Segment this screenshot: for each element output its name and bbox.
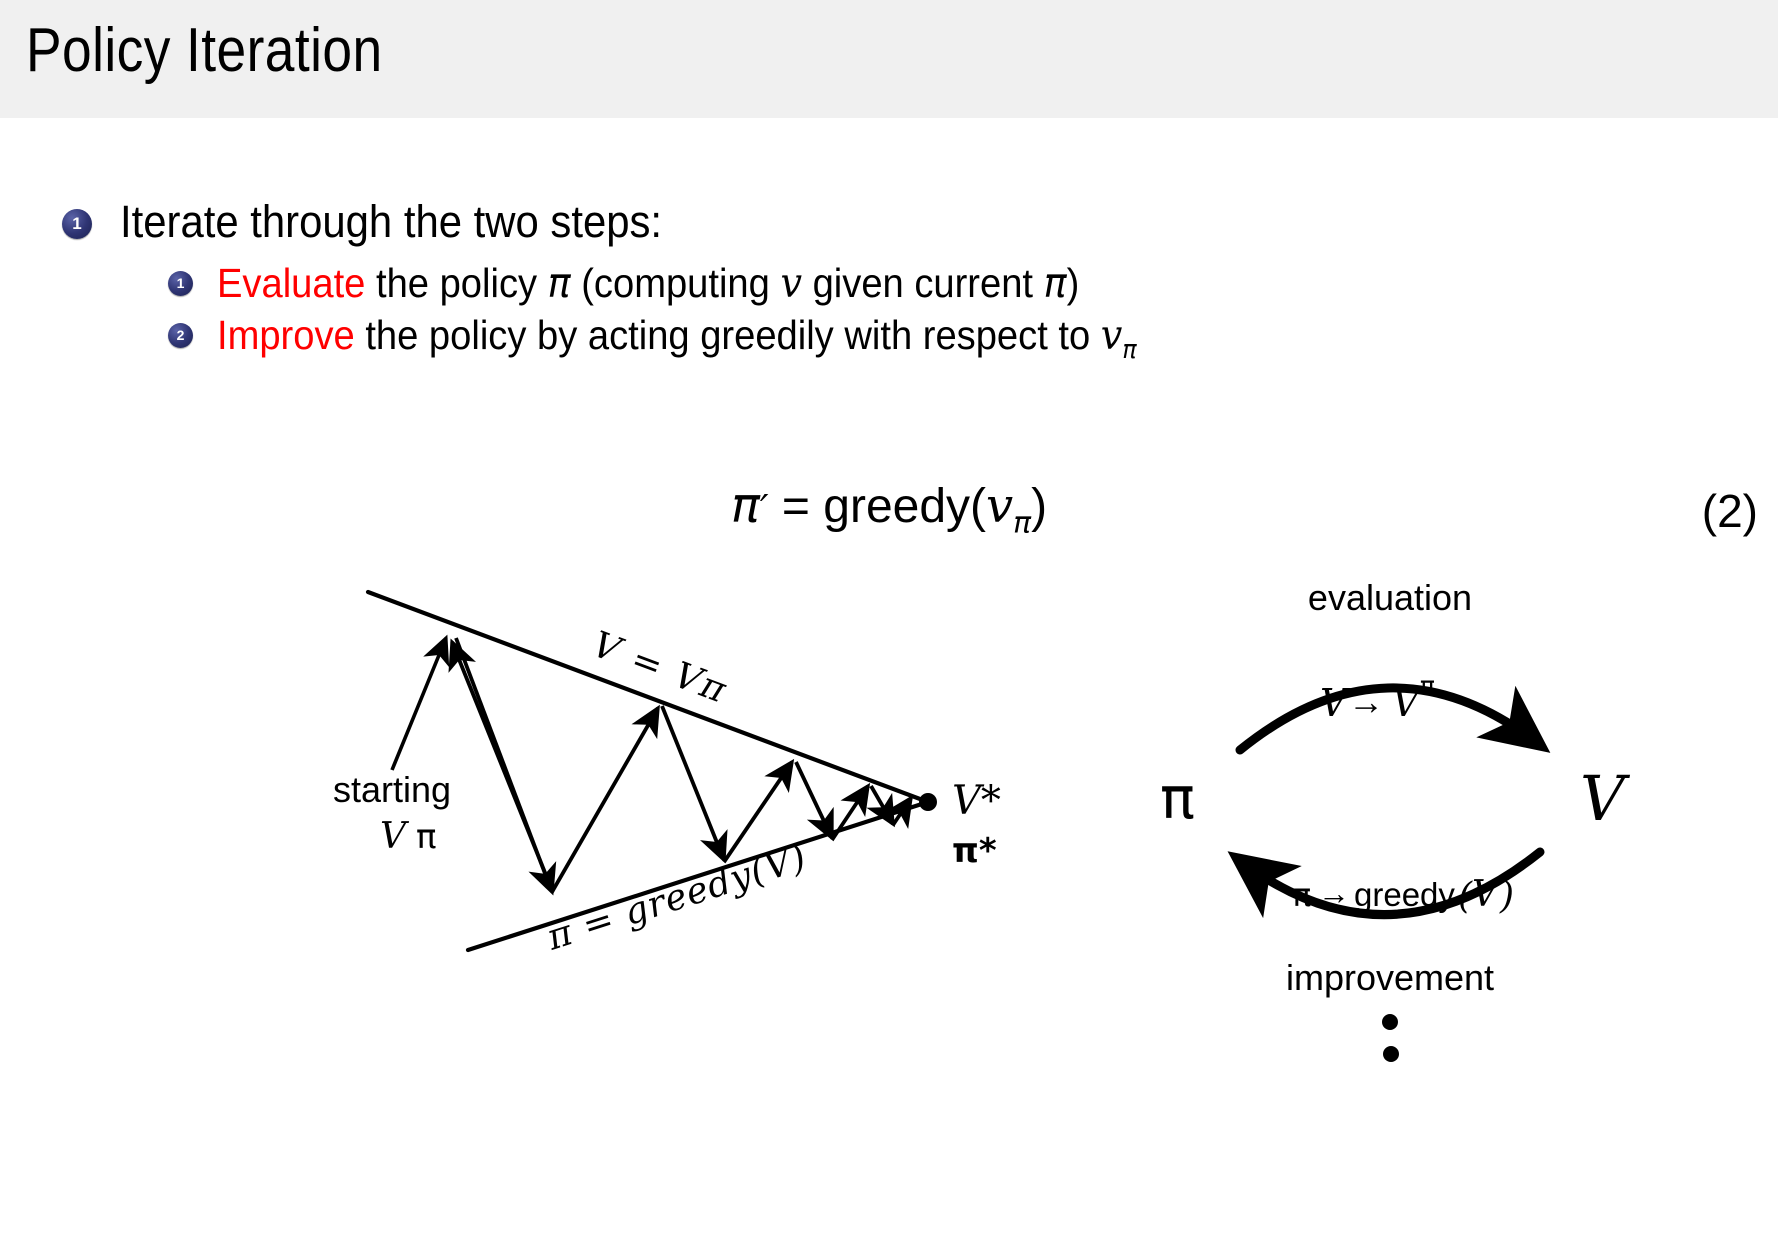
bullet-text: Iterate through the two steps: — [120, 196, 662, 248]
equation-number: (2) — [1702, 484, 1758, 538]
starting-v-label: V — [380, 816, 410, 857]
improvement-label: improvement — [1286, 957, 1494, 998]
optimal-v-label: V* — [952, 778, 1001, 824]
upper-line-v-equals-vpi — [368, 592, 928, 802]
evaluation-formula-arrow: → — [1348, 681, 1384, 722]
evaluation-formula-vpi: V — [1392, 681, 1423, 725]
bullet-list: 1 Iterate through the two steps: 1 Evalu… — [0, 196, 1778, 368]
v-node-label: V — [1580, 762, 1631, 835]
improvement-formula-greedy: greedy — [1354, 876, 1455, 913]
zigzag-up-4 — [832, 786, 868, 840]
optimal-pi-label: π* — [952, 831, 997, 871]
gpi-cycle-figure: π V evaluation V → V π π → greedy ( V ) … — [1140, 570, 1700, 1040]
improvement-formula-arrow: → — [1318, 875, 1350, 911]
equation-equals-greedy: = greedy( — [769, 480, 986, 533]
starting-pointer-arrow — [392, 638, 446, 770]
improvement-formula-open-paren: ( — [1458, 876, 1473, 917]
zigzag-down-1 — [456, 638, 552, 892]
improvement-formula: π → greedy ( V ) — [1292, 874, 1514, 917]
v-symbol: v — [1101, 311, 1123, 359]
evaluation-label: evaluation — [1308, 577, 1472, 618]
keyword-improve: Improve — [217, 312, 355, 358]
evaluation-formula: V → V π — [1320, 671, 1435, 725]
bullet-number-badge: 1 — [168, 271, 193, 296]
improvement-formula-v: V — [1472, 874, 1502, 915]
upper-line-label: V = Vπ — [587, 624, 733, 712]
bullet-number-badge: 1 — [62, 209, 92, 239]
page-title: Policy Iteration — [26, 20, 383, 82]
bullet-item-evaluate: 1 Evaluate the policy π (computing v giv… — [0, 260, 1778, 308]
evaluate-rest-d: ) — [1067, 260, 1080, 306]
ellipsis-dot-lower — [1383, 1046, 1399, 1062]
pi-node-label: π — [1160, 764, 1195, 832]
bullet-text-improve: Improve the policy by acting greedily wi… — [217, 312, 1137, 365]
evaluate-rest-b: (computing — [571, 260, 781, 306]
equation-close-paren: ) — [1031, 480, 1047, 533]
evaluate-rest-a: the policy — [365, 260, 547, 306]
equation-v: v — [986, 478, 1013, 534]
bullet-item-improve: 2 Improve the policy by acting greedily … — [0, 312, 1778, 365]
zigzag-up-2 — [552, 708, 658, 892]
bullet-text-evaluate: Evaluate the policy π (computing v given… — [217, 260, 1079, 308]
optimal-point-dot — [919, 793, 937, 811]
pi-symbol-2: π — [1044, 259, 1067, 307]
equation-prime: ′ — [760, 487, 769, 532]
zigzag-down-3 — [796, 762, 832, 838]
ellipsis-dot — [1382, 1014, 1398, 1030]
pi-symbol: π — [548, 259, 571, 307]
bullet-number-badge: 2 — [168, 323, 193, 348]
improvement-formula-close-paren: ) — [1499, 876, 1514, 917]
lower-line-label: π = greedy(V) — [541, 837, 812, 959]
evaluation-formula-superscript-pi: π — [1420, 671, 1435, 700]
v-subscript-pi: π — [1122, 334, 1136, 364]
equation-greedy: π′ = greedy(vπ) — [0, 478, 1778, 541]
equation-v-subscript: π — [1013, 506, 1031, 541]
equation-pi: π — [731, 478, 760, 534]
evaluation-arc — [1240, 688, 1536, 750]
bullet-item-iterate: 1 Iterate through the two steps: — [0, 196, 1778, 248]
keyword-evaluate: Evaluate — [217, 260, 365, 306]
improve-rest-a: the policy by acting greedily with respe… — [355, 312, 1101, 358]
improvement-formula-pi: π — [1292, 876, 1311, 914]
v-symbol: v — [780, 259, 802, 307]
evaluate-rest-c: given current — [802, 260, 1044, 306]
starting-pi-label: π — [416, 817, 436, 857]
starting-label: starting — [333, 769, 451, 810]
evaluation-formula-v: V — [1320, 681, 1351, 725]
policy-iteration-convergence-figure: starting V π V = Vπ π = greedy(V) V* π* — [280, 570, 1040, 1010]
zigzag-down-2 — [662, 706, 724, 860]
